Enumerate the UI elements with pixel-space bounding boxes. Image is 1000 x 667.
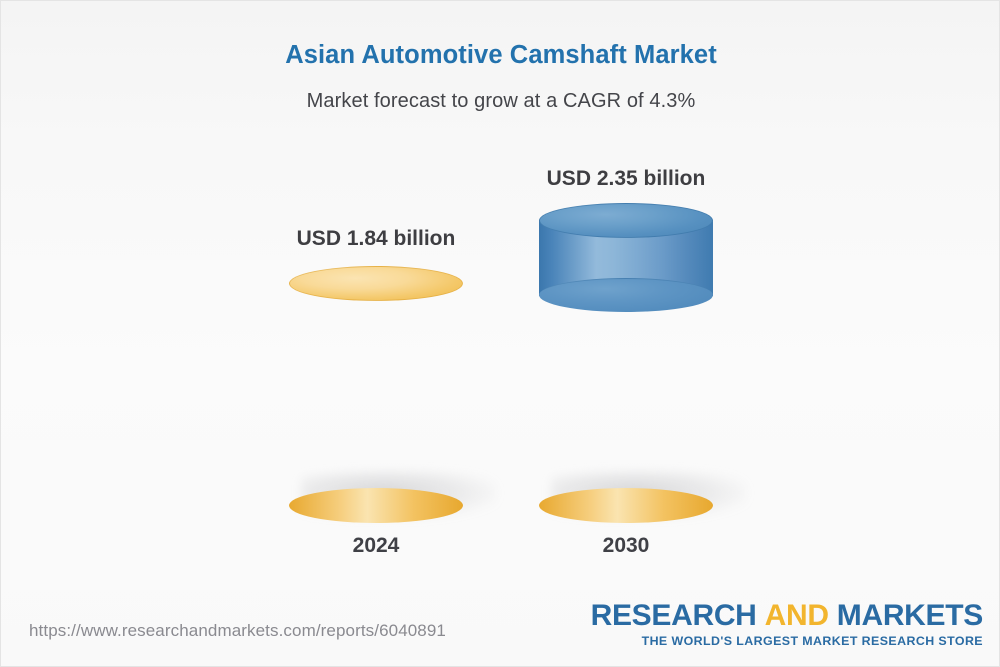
segment-base-2024 [289, 283, 463, 506]
segment-base-2030 [539, 289, 713, 506]
category-label-2030: 2030 [466, 534, 786, 558]
logo-word-markets: MARKETS [837, 599, 983, 632]
cylinder-top-2030 [539, 203, 713, 238]
cylinder-top-2024 [289, 266, 463, 301]
cylinder-body-2024 [289, 283, 463, 506]
logo-word-and: AND [765, 599, 829, 632]
segment-seam-2030 [539, 278, 713, 312]
value-label-2030: USD 2.35 billion [466, 167, 786, 191]
research-and-markets-logo[interactable]: RESEARCH AND MARKETS THE WORLD'S LARGEST… [591, 601, 983, 648]
plot-area: USD 1.84 billion 2024 USD 2.35 billion [1, 1, 1000, 601]
logo-word-research: RESEARCH [591, 599, 757, 632]
cylinder-body-base-2030 [539, 289, 713, 506]
chart-canvas: Asian Automotive Camshaft Market Market … [0, 0, 1000, 667]
logo-tagline: THE WORLD'S LARGEST MARKET RESEARCH STOR… [591, 634, 983, 648]
logo-wordmark: RESEARCH AND MARKETS [591, 601, 983, 632]
report-url[interactable]: https://www.researchandmarkets.com/repor… [29, 621, 446, 641]
value-label-2024: USD 1.84 billion [216, 227, 536, 251]
